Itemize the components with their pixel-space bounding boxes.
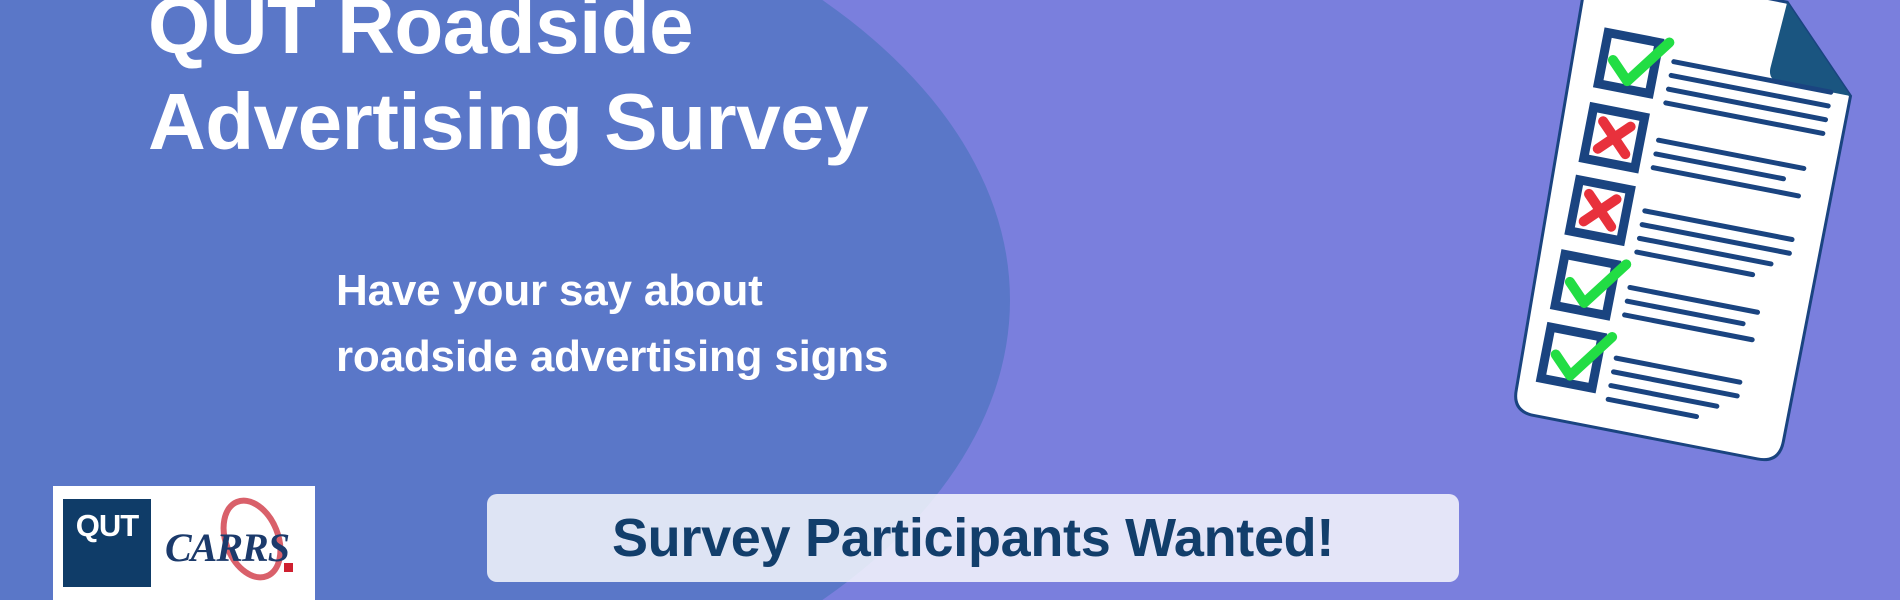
call-to-action-banner: Survey Participants Wanted! [487,494,1459,582]
headline-line-2: Advertising Survey [148,74,908,170]
subheading: Have your say about roadside advertising… [336,258,888,390]
survey-promo-banner: QUT Roadside Advertising Survey Have you… [0,0,1900,600]
svg-text:CARRS: CARRS [165,525,289,570]
qut-logo: QUT [63,499,151,587]
headline-line-1: QUT Roadside [148,0,908,74]
carrs-logo: CARRS [157,495,307,591]
subheading-line-1: Have your say about [336,258,888,324]
subheading-line-2: roadside advertising signs [336,324,888,390]
page-title: QUT Roadside Advertising Survey [148,0,908,170]
logo-lockup: QUT CARRS [53,486,315,600]
survey-checklist-illustration [1420,0,1900,478]
call-to-action-label: Survey Participants Wanted! [612,507,1334,569]
qut-logo-label: QUT [63,510,151,541]
